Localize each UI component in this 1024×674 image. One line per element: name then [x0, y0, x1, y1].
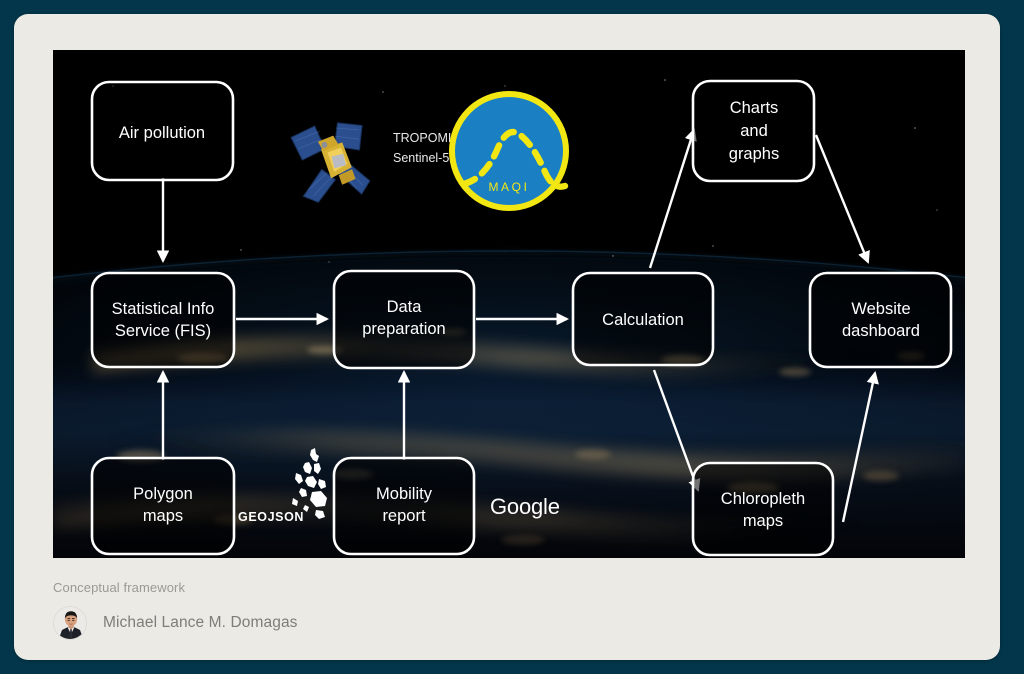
diagram-figure: TROPOMI Sentinel-5P MAQI — [53, 50, 965, 558]
maqi-logo: MAQI — [452, 94, 566, 208]
diagram-canvas: TROPOMI Sentinel-5P MAQI — [53, 50, 965, 558]
maqi-logo-text: MAQI — [488, 180, 529, 194]
node-air-pollution-label: Air pollution — [119, 124, 205, 142]
caption-title: Conceptual framework — [53, 580, 923, 596]
node-mobility-report-label-line2: report — [382, 507, 426, 525]
node-website-dashboard-label-line2: dashboard — [842, 322, 920, 340]
node-data-preparation-label-line2: preparation — [362, 320, 445, 338]
avatar-photo-icon — [54, 607, 87, 640]
node-fis-label-line2: Service (FIS) — [115, 322, 211, 340]
node-chloropleth-label-line2: maps — [743, 512, 783, 530]
node-data-preparation-label-line1: Data — [387, 298, 423, 316]
google-label: Google — [490, 494, 560, 519]
node-calculation[interactable]: Calculation — [573, 273, 713, 365]
node-charts-and-graphs[interactable]: Charts and graphs — [693, 81, 814, 181]
avatar — [53, 606, 87, 640]
node-website-dashboard[interactable]: Website dashboard — [810, 273, 951, 367]
node-charts-label-line3: graphs — [729, 145, 779, 163]
node-chloropleth-maps[interactable]: Chloropleth maps — [693, 463, 833, 555]
tropomi-label-line1: TROPOMI — [393, 131, 451, 145]
node-charts-label-line1: Charts — [730, 99, 779, 117]
node-calculation-label: Calculation — [602, 311, 684, 329]
node-fis-label-line1: Statistical Info — [112, 300, 215, 318]
node-mobility-report[interactable]: Mobility report — [334, 458, 474, 554]
tropomi-label-line2: Sentinel-5P — [393, 151, 458, 165]
author-name: Michael Lance M. Domagas — [103, 614, 298, 632]
author-row: Michael Lance M. Domagas — [53, 606, 923, 640]
content-card: TROPOMI Sentinel-5P MAQI — [14, 14, 1000, 660]
node-chloropleth-label-line1: Chloropleth — [721, 490, 805, 508]
node-mobility-report-label-line1: Mobility — [376, 485, 433, 503]
geojson-label: GEOJSON — [238, 510, 304, 524]
node-statistical-info-service[interactable]: Statistical Info Service (FIS) — [92, 273, 234, 367]
node-polygon-maps-label-line1: Polygon — [133, 485, 193, 503]
figure-caption: Conceptual framework — [53, 580, 923, 640]
page-root: TROPOMI Sentinel-5P MAQI — [0, 0, 1024, 674]
node-polygon-maps-label-line2: maps — [143, 507, 183, 525]
node-polygon-maps[interactable]: Polygon maps — [92, 458, 234, 554]
node-website-dashboard-label-line1: Website — [851, 300, 910, 318]
node-charts-label-line2: and — [740, 122, 768, 140]
node-air-pollution[interactable]: Air pollution — [92, 82, 233, 180]
node-data-preparation[interactable]: Data preparation — [334, 271, 474, 368]
